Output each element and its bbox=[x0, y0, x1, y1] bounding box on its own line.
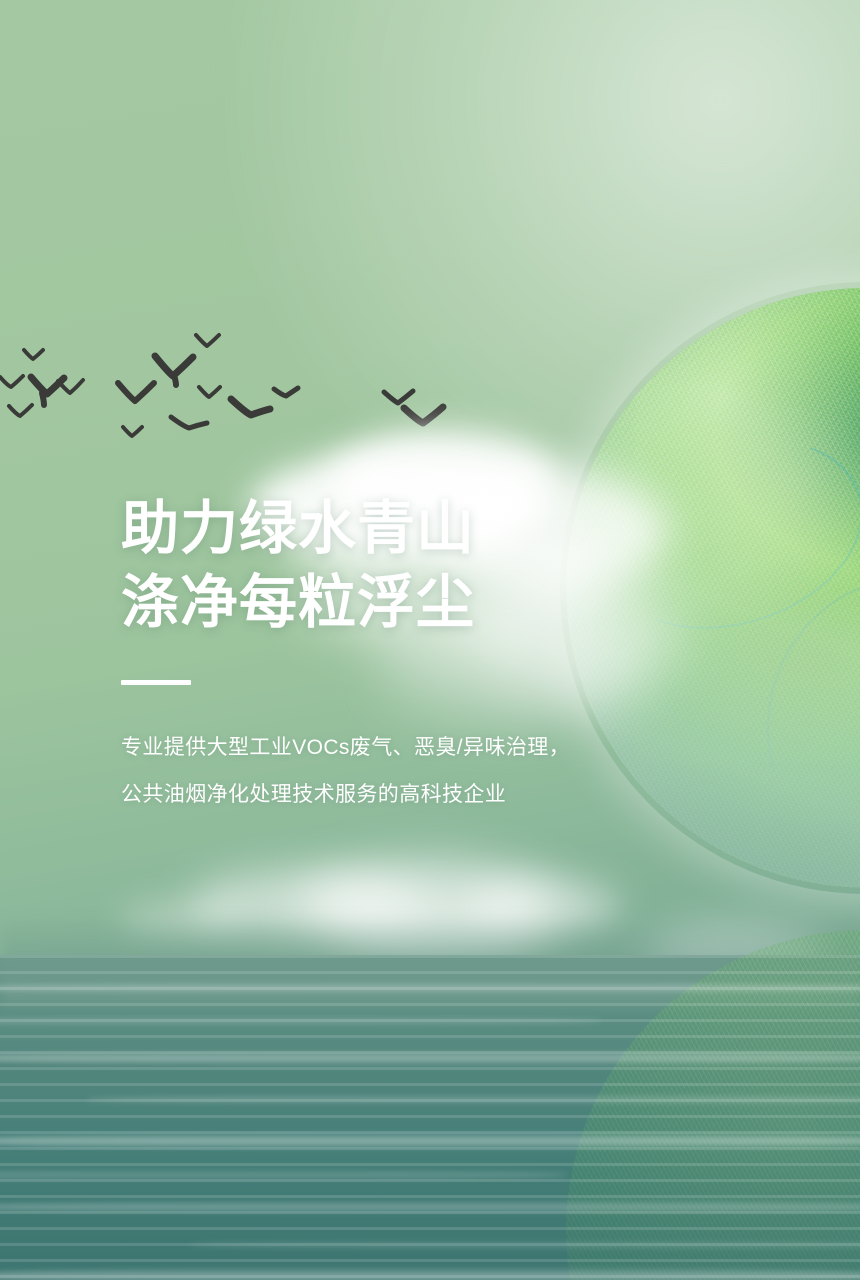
flying-birds-icon bbox=[0, 330, 470, 460]
banner-poster: 助力绿水青山 涤净每粒浮尘 专业提供大型工业VOCs废气、恶臭/异味治理， 公共… bbox=[0, 0, 860, 1280]
subtitle-line-2: 公共油烟净化处理技术服务的高科技企业 bbox=[121, 769, 821, 816]
subtitle-line-1: 专业提供大型工业VOCs废气、恶臭/异味治理， bbox=[121, 685, 821, 769]
headline-line-1: 助力绿水青山 bbox=[121, 492, 821, 566]
water-surface-icon bbox=[0, 955, 860, 1280]
headline-line-2: 涤净每粒浮尘 bbox=[121, 566, 821, 640]
banner-copy: 助力绿水青山 涤净每粒浮尘 专业提供大型工业VOCs废气、恶臭/异味治理， 公共… bbox=[121, 492, 821, 816]
